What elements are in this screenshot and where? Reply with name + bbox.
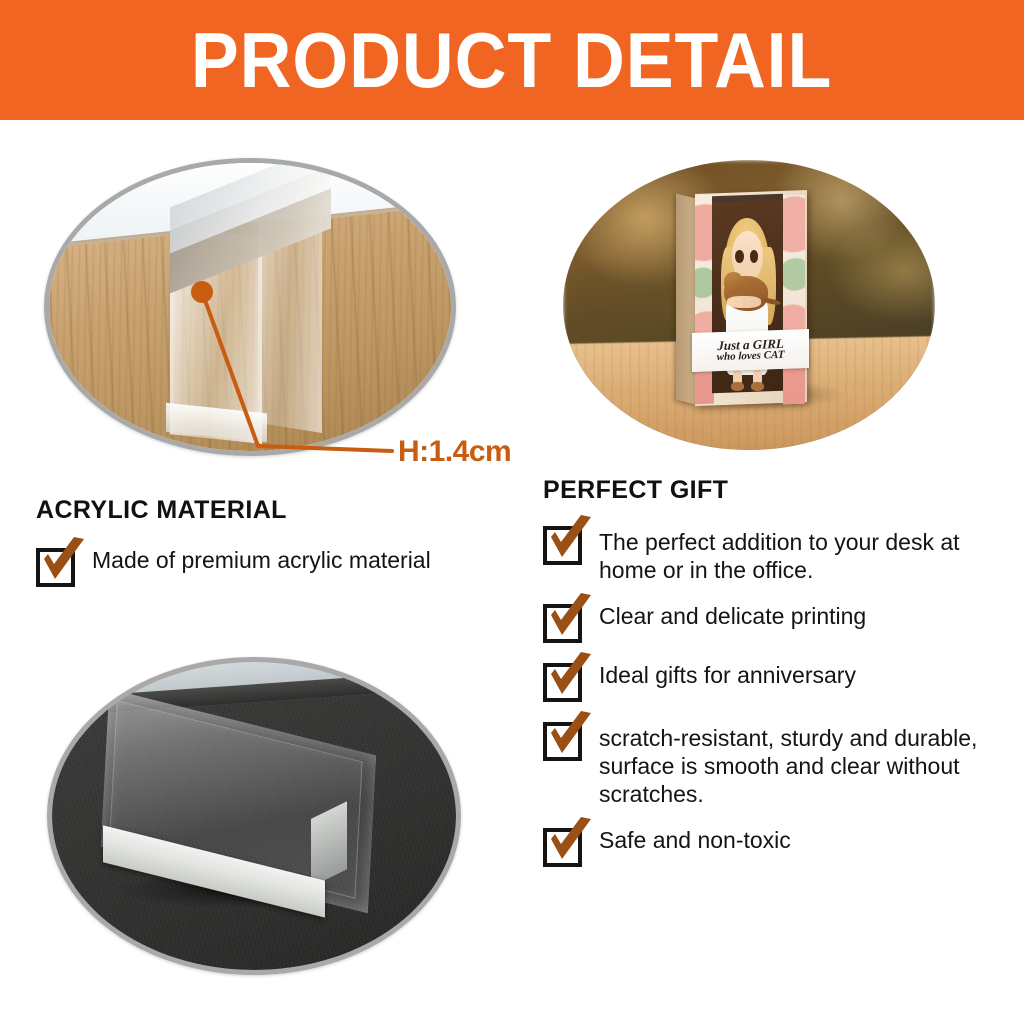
photo-gift-box-on-table: Just a GIRL who loves CAT (563, 160, 935, 450)
figurine-eye-left (735, 250, 744, 263)
list-item: Made of premium acrylic material (36, 546, 536, 587)
check-icon (545, 652, 595, 700)
giftbox-label-band: Just a GIRL who loves CAT (692, 329, 809, 372)
checkbox-outline (36, 548, 75, 587)
figurine-eye-right (750, 250, 759, 263)
checkbox-outline (543, 828, 582, 867)
page-title: PRODUCT DETAIL (191, 21, 832, 99)
list-item-label: Made of premium acrylic material (92, 546, 431, 574)
figurine-shoe-left (731, 382, 744, 391)
giftbox-side-panel (676, 194, 696, 405)
list-item-label: The perfect addition to your desk at hom… (599, 524, 1013, 584)
product-detail-infographic: PRODUCT DETAIL H:1.4cm (0, 0, 1024, 1024)
list-item-label: scratch-resistant, sturdy and durable, s… (599, 720, 1013, 808)
bullet-list-acrylic-material: Made of premium acrylic material (36, 546, 536, 605)
check-icon (38, 537, 88, 585)
list-item-label: Safe and non-toxic (599, 826, 791, 854)
giftbox-label-line2: who loves CAT (716, 350, 784, 364)
list-item: The perfect addition to your desk at hom… (543, 524, 1013, 584)
check-icon (545, 817, 595, 865)
list-item: Safe and non-toxic (543, 826, 1013, 867)
photo-acrylic-block-on-slate (47, 657, 461, 975)
checkbox-outline (543, 663, 582, 702)
giftbox-floral-border-right (783, 194, 805, 404)
section-heading-acrylic-material: ACRYLIC MATERIAL (36, 496, 287, 525)
checkbox-outline (543, 722, 582, 761)
figurine-shoe-right (751, 382, 764, 391)
thickness-callout-dot (191, 281, 213, 303)
photo-acrylic-edge-on-wood (44, 158, 456, 456)
list-item: scratch-resistant, sturdy and durable, s… (543, 720, 1013, 808)
list-item-label: Clear and delicate printing (599, 602, 866, 630)
list-item: Clear and delicate printing (543, 602, 1013, 643)
thickness-callout-label: H:1.4cm (398, 435, 511, 469)
list-item-label: Ideal gifts for anniversary (599, 661, 856, 689)
check-icon (545, 593, 595, 641)
figurine-arms (727, 296, 760, 308)
list-item: Ideal gifts for anniversary (543, 661, 1013, 702)
check-icon (545, 711, 595, 759)
bullet-list-perfect-gift: The perfect addition to your desk at hom… (543, 524, 1013, 885)
checkbox-outline (543, 526, 582, 565)
figurine-cat-head (724, 272, 743, 294)
page-header-banner: PRODUCT DETAIL (0, 0, 1024, 120)
section-heading-perfect-gift: PERFECT GIFT (543, 476, 728, 505)
check-icon (545, 515, 595, 563)
checkbox-outline (543, 604, 582, 643)
